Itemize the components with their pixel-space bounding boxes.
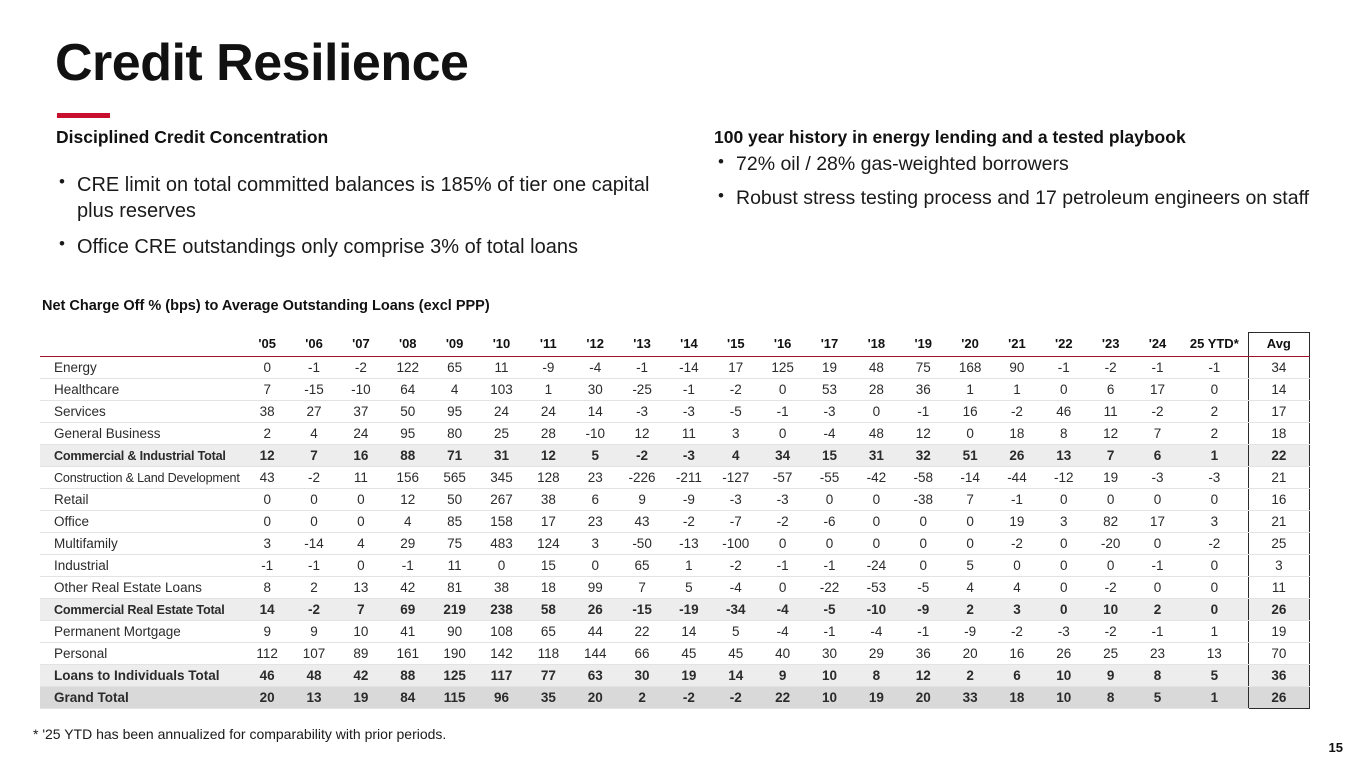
table-cell: 128 bbox=[525, 467, 572, 489]
table-cell: 95 bbox=[431, 401, 478, 423]
table-cell: 3 bbox=[1181, 511, 1248, 533]
table-cell: 0 bbox=[1087, 555, 1134, 577]
table-cell: 48 bbox=[853, 357, 900, 379]
table-cell: 25 bbox=[478, 423, 525, 445]
table-cell: 0 bbox=[947, 533, 994, 555]
table-cell: 103 bbox=[478, 379, 525, 401]
table-cell: 7 bbox=[1134, 423, 1181, 445]
table-cell: 8 bbox=[1134, 665, 1181, 687]
table-cell-avg: 21 bbox=[1248, 467, 1309, 489]
table-cell: 0 bbox=[337, 511, 384, 533]
table-cell: 0 bbox=[900, 533, 947, 555]
table-cell: 16 bbox=[337, 445, 384, 467]
table-cell: 0 bbox=[1181, 379, 1248, 401]
table-cell: 125 bbox=[759, 357, 806, 379]
table-row: Retail00012502673869-9-3-300-387-1000016 bbox=[40, 489, 1310, 511]
table-cell: 238 bbox=[478, 599, 525, 621]
table-cell: 17 bbox=[1134, 379, 1181, 401]
table-cell: -25 bbox=[619, 379, 666, 401]
table-cell: 24 bbox=[525, 401, 572, 423]
table-cell: 48 bbox=[853, 423, 900, 445]
table-cell: -3 bbox=[712, 489, 759, 511]
table-cell: 13 bbox=[291, 687, 338, 709]
table-cell: 2 bbox=[947, 665, 994, 687]
table-cell: 46 bbox=[1040, 401, 1087, 423]
table-cell: 13 bbox=[337, 577, 384, 599]
table-cell: -1 bbox=[666, 379, 713, 401]
table-cell: -4 bbox=[759, 621, 806, 643]
table-cell: 6 bbox=[1087, 379, 1134, 401]
column-header-year: '14 bbox=[666, 333, 713, 357]
table-cell: 26 bbox=[572, 599, 619, 621]
row-label: Personal bbox=[40, 643, 244, 665]
table-cell: 142 bbox=[478, 643, 525, 665]
table-cell: -2 bbox=[1087, 621, 1134, 643]
table-cell: 95 bbox=[384, 423, 431, 445]
table-cell: -1 bbox=[759, 555, 806, 577]
table-cell: 4 bbox=[384, 511, 431, 533]
table-cell: 45 bbox=[712, 643, 759, 665]
table-cell: 7 bbox=[244, 379, 291, 401]
table-row: Construction & Land Development43-211156… bbox=[40, 467, 1310, 489]
table-cell: -50 bbox=[619, 533, 666, 555]
table-cell: 8 bbox=[244, 577, 291, 599]
table-cell-avg: 18 bbox=[1248, 423, 1309, 445]
column-header-category bbox=[40, 333, 244, 357]
table-cell: -4 bbox=[853, 621, 900, 643]
table-cell: 14 bbox=[244, 599, 291, 621]
row-label: Construction & Land Development bbox=[40, 467, 244, 489]
net-charge-off-table: '05'06'07'08'09'10'11'12'13'14'15'16'17'… bbox=[40, 332, 1310, 709]
row-label: Multifamily bbox=[40, 533, 244, 555]
table-cell: -22 bbox=[806, 577, 853, 599]
table-cell: -24 bbox=[853, 555, 900, 577]
table-cell: 0 bbox=[291, 511, 338, 533]
table-cell: 108 bbox=[478, 621, 525, 643]
table-cell-avg: 25 bbox=[1248, 533, 1309, 555]
column-header-year: '11 bbox=[525, 333, 572, 357]
table-cell: 0 bbox=[806, 533, 853, 555]
table-cell: 0 bbox=[1040, 533, 1087, 555]
table-cell: 58 bbox=[525, 599, 572, 621]
table-cell: 12 bbox=[244, 445, 291, 467]
left-bullet-list: CRE limit on total committed balances is… bbox=[55, 172, 655, 260]
title-accent-rule bbox=[57, 113, 110, 118]
table-cell: 2 bbox=[1181, 423, 1248, 445]
table-cell: 19 bbox=[337, 687, 384, 709]
table-cell: 28 bbox=[525, 423, 572, 445]
row-label: Grand Total bbox=[40, 687, 244, 709]
table-cell: 30 bbox=[619, 665, 666, 687]
table-cell: 31 bbox=[478, 445, 525, 467]
table-cell: -53 bbox=[853, 577, 900, 599]
table-cell: -2 bbox=[994, 401, 1041, 423]
table-cell: -1 bbox=[1134, 555, 1181, 577]
list-item: Robust stress testing process and 17 pet… bbox=[714, 186, 1314, 212]
table-cell: -34 bbox=[712, 599, 759, 621]
table-cell: 15 bbox=[525, 555, 572, 577]
table-cell: 5 bbox=[1134, 687, 1181, 709]
table-cell: -1 bbox=[806, 555, 853, 577]
table-cell: 1 bbox=[947, 379, 994, 401]
table-cell: 20 bbox=[572, 687, 619, 709]
table-cell: 33 bbox=[947, 687, 994, 709]
table-cell: 10 bbox=[806, 665, 853, 687]
table-cell-avg: 11 bbox=[1248, 577, 1309, 599]
table-cell: 81 bbox=[431, 577, 478, 599]
table-cell: 7 bbox=[1087, 445, 1134, 467]
table-cell: 0 bbox=[900, 555, 947, 577]
table-cell: 12 bbox=[525, 445, 572, 467]
table-cell: 144 bbox=[572, 643, 619, 665]
table-cell: -1 bbox=[900, 621, 947, 643]
table-cell: 0 bbox=[478, 555, 525, 577]
table-cell: 16 bbox=[994, 643, 1041, 665]
table-cell: 1 bbox=[525, 379, 572, 401]
table-cell: 19 bbox=[853, 687, 900, 709]
table-cell-avg: 36 bbox=[1248, 665, 1309, 687]
table-cell: -5 bbox=[806, 599, 853, 621]
table-cell: 66 bbox=[619, 643, 666, 665]
column-header-year: '21 bbox=[994, 333, 1041, 357]
table-cell: 7 bbox=[619, 577, 666, 599]
table-row: Commercial & Industrial Total12716887131… bbox=[40, 445, 1310, 467]
table-cell: -44 bbox=[994, 467, 1041, 489]
table-cell: -19 bbox=[666, 599, 713, 621]
column-header-year: '12 bbox=[572, 333, 619, 357]
table-cell: 31 bbox=[853, 445, 900, 467]
table-cell: 0 bbox=[947, 511, 994, 533]
column-header-year: '09 bbox=[431, 333, 478, 357]
table-cell: 345 bbox=[478, 467, 525, 489]
table-cell: 34 bbox=[759, 445, 806, 467]
table-cell: -42 bbox=[853, 467, 900, 489]
table-cell: 44 bbox=[572, 621, 619, 643]
table-cell: 12 bbox=[1087, 423, 1134, 445]
table-cell: 0 bbox=[1134, 489, 1181, 511]
table-cell: 168 bbox=[947, 357, 994, 379]
table-cell: 30 bbox=[572, 379, 619, 401]
table-cell: 18 bbox=[994, 687, 1041, 709]
list-item: 72% oil / 28% gas-weighted borrowers bbox=[714, 152, 1314, 178]
table-cell: 14 bbox=[666, 621, 713, 643]
table-cell: 32 bbox=[900, 445, 947, 467]
table-cell: -1 bbox=[759, 401, 806, 423]
column-header-avg: Avg bbox=[1248, 333, 1309, 357]
column-header-year: '16 bbox=[759, 333, 806, 357]
table-cell: 9 bbox=[1087, 665, 1134, 687]
table-cell: 219 bbox=[431, 599, 478, 621]
table-cell: 27 bbox=[291, 401, 338, 423]
row-label: Retail bbox=[40, 489, 244, 511]
table-cell: 5 bbox=[947, 555, 994, 577]
table-cell: 0 bbox=[853, 489, 900, 511]
table-row: Multifamily3-14429754831243-50-13-100000… bbox=[40, 533, 1310, 555]
table-cell: -4 bbox=[572, 357, 619, 379]
table-cell: 4 bbox=[712, 445, 759, 467]
list-item: CRE limit on total committed balances is… bbox=[55, 172, 655, 225]
table-cell: 75 bbox=[431, 533, 478, 555]
table-cell: 45 bbox=[666, 643, 713, 665]
slide-root: Credit Resilience Disciplined Credit Con… bbox=[0, 0, 1365, 769]
table-cell: -9 bbox=[947, 621, 994, 643]
table-cell: 0 bbox=[759, 533, 806, 555]
table-row: Other Real Estate Loans8213428138189975-… bbox=[40, 577, 1310, 599]
table-cell: 6 bbox=[1134, 445, 1181, 467]
table-cell: 10 bbox=[806, 687, 853, 709]
table-cell: 42 bbox=[337, 665, 384, 687]
table-cell: 99 bbox=[572, 577, 619, 599]
row-label: Permanent Mortgage bbox=[40, 621, 244, 643]
column-header-year: '06 bbox=[291, 333, 338, 357]
table-cell: 14 bbox=[712, 665, 759, 687]
table-row: Personal11210789161190142118144664545403… bbox=[40, 643, 1310, 665]
table-caption: Net Charge Off % (bps) to Average Outsta… bbox=[42, 298, 490, 314]
table-cell: -4 bbox=[759, 599, 806, 621]
table-row: Commercial Real Estate Total14-276921923… bbox=[40, 599, 1310, 621]
row-label: Healthcare bbox=[40, 379, 244, 401]
table-cell: -2 bbox=[1087, 577, 1134, 599]
table-cell: 9 bbox=[619, 489, 666, 511]
table-cell: 24 bbox=[478, 401, 525, 423]
table-cell: 7 bbox=[947, 489, 994, 511]
table-cell: 565 bbox=[431, 467, 478, 489]
table-cell: 41 bbox=[384, 621, 431, 643]
table-cell: 65 bbox=[619, 555, 666, 577]
table-cell: -15 bbox=[291, 379, 338, 401]
table-cell: 12 bbox=[900, 423, 947, 445]
table-cell: 2 bbox=[947, 599, 994, 621]
table-cell: 36 bbox=[900, 379, 947, 401]
table-cell: 0 bbox=[1040, 555, 1087, 577]
table-cell: -2 bbox=[291, 467, 338, 489]
table-row: Healthcare7-15-10644103130-25-1-20532836… bbox=[40, 379, 1310, 401]
table-cell: -2 bbox=[994, 621, 1041, 643]
table-cell: -2 bbox=[291, 599, 338, 621]
table-cell: 19 bbox=[666, 665, 713, 687]
table-body: Energy0-1-21226511-9-4-1-141712519487516… bbox=[40, 357, 1310, 709]
table-cell: -38 bbox=[900, 489, 947, 511]
table-cell: 3 bbox=[712, 423, 759, 445]
table-row: Industrial-1-10-1110150651-2-1-1-2405000… bbox=[40, 555, 1310, 577]
table-cell: -1 bbox=[900, 401, 947, 423]
table-cell: 0 bbox=[244, 357, 291, 379]
row-label: Office bbox=[40, 511, 244, 533]
table-cell: -1 bbox=[291, 555, 338, 577]
table-cell: 23 bbox=[572, 467, 619, 489]
row-label: Commercial & Industrial Total bbox=[40, 445, 244, 467]
column-header-year: '07 bbox=[337, 333, 384, 357]
table-cell: 5 bbox=[666, 577, 713, 599]
table-cell: -4 bbox=[806, 423, 853, 445]
table-cell: 0 bbox=[1134, 533, 1181, 555]
table-cell: 71 bbox=[431, 445, 478, 467]
table-cell: 4 bbox=[291, 423, 338, 445]
table-cell: 0 bbox=[1040, 599, 1087, 621]
table-cell: 38 bbox=[525, 489, 572, 511]
table-cell: -2 bbox=[337, 357, 384, 379]
table-cell: 3 bbox=[1040, 511, 1087, 533]
table-cell: 19 bbox=[806, 357, 853, 379]
table-cell: 5 bbox=[712, 621, 759, 643]
table-cell: 2 bbox=[1181, 401, 1248, 423]
row-label: Commercial Real Estate Total bbox=[40, 599, 244, 621]
table-cell: -15 bbox=[619, 599, 666, 621]
table-cell: 0 bbox=[1040, 379, 1087, 401]
table-cell: 18 bbox=[525, 577, 572, 599]
table-cell: -12 bbox=[1040, 467, 1087, 489]
column-header-year: '05 bbox=[244, 333, 291, 357]
table-cell: -14 bbox=[291, 533, 338, 555]
table-cell: 3 bbox=[994, 599, 1041, 621]
table-cell: 90 bbox=[994, 357, 1041, 379]
column-header-year: '13 bbox=[619, 333, 666, 357]
table-cell: 0 bbox=[337, 489, 384, 511]
table-cell: -9 bbox=[525, 357, 572, 379]
table-cell: -4 bbox=[712, 577, 759, 599]
table-cell: 43 bbox=[244, 467, 291, 489]
table-cell: 89 bbox=[337, 643, 384, 665]
table-cell: 23 bbox=[1134, 643, 1181, 665]
table-cell: 15 bbox=[806, 445, 853, 467]
table-cell: 38 bbox=[244, 401, 291, 423]
table-cell: -5 bbox=[712, 401, 759, 423]
table-cell: -10 bbox=[853, 599, 900, 621]
row-label: Energy bbox=[40, 357, 244, 379]
column-header-year: '08 bbox=[384, 333, 431, 357]
table-cell: 0 bbox=[994, 555, 1041, 577]
table-cell: -58 bbox=[900, 467, 947, 489]
table-cell-avg: 70 bbox=[1248, 643, 1309, 665]
table-cell: -2 bbox=[1134, 401, 1181, 423]
table-cell: 158 bbox=[478, 511, 525, 533]
page-title: Credit Resilience bbox=[55, 36, 468, 91]
table-cell: -226 bbox=[619, 467, 666, 489]
table-cell: 22 bbox=[759, 687, 806, 709]
table-cell: 0 bbox=[806, 489, 853, 511]
table-cell: 3 bbox=[572, 533, 619, 555]
table-cell: 0 bbox=[337, 555, 384, 577]
right-bullet-list: 72% oil / 28% gas-weighted borrowers Rob… bbox=[714, 152, 1314, 211]
table-row: Permanent Mortgage99104190108654422145-4… bbox=[40, 621, 1310, 643]
table-cell: -2 bbox=[712, 687, 759, 709]
table-cell-avg: 21 bbox=[1248, 511, 1309, 533]
table-cell: -7 bbox=[712, 511, 759, 533]
table-cell: 20 bbox=[947, 643, 994, 665]
page-number: 15 bbox=[1329, 740, 1343, 755]
table-cell: -55 bbox=[806, 467, 853, 489]
table-cell: 0 bbox=[1134, 577, 1181, 599]
table-cell: -1 bbox=[994, 489, 1041, 511]
table-cell: 63 bbox=[572, 665, 619, 687]
table-cell: 17 bbox=[525, 511, 572, 533]
column-header-year: 25 YTD* bbox=[1181, 333, 1248, 357]
table-cell-avg: 34 bbox=[1248, 357, 1309, 379]
table-cell: 5 bbox=[572, 445, 619, 467]
table-cell: 0 bbox=[1181, 577, 1248, 599]
table-cell: 1 bbox=[1181, 621, 1248, 643]
table-cell: 1 bbox=[994, 379, 1041, 401]
table-cell-avg: 14 bbox=[1248, 379, 1309, 401]
table-row: Loans to Individuals Total46484288125117… bbox=[40, 665, 1310, 687]
table-cell: 20 bbox=[244, 687, 291, 709]
table-cell: -3 bbox=[1181, 467, 1248, 489]
table-cell: 0 bbox=[1087, 489, 1134, 511]
table-row: Services3827375095242414-3-3-5-1-30-116-… bbox=[40, 401, 1310, 423]
table-cell: 88 bbox=[384, 665, 431, 687]
table-cell: 18 bbox=[994, 423, 1041, 445]
table-cell: 0 bbox=[853, 511, 900, 533]
table-cell: 13 bbox=[1181, 643, 1248, 665]
table-cell: 267 bbox=[478, 489, 525, 511]
table-cell: 1 bbox=[1181, 687, 1248, 709]
table-cell: 2 bbox=[244, 423, 291, 445]
table-cell: -57 bbox=[759, 467, 806, 489]
table-cell: -2 bbox=[619, 445, 666, 467]
table-cell: 77 bbox=[525, 665, 572, 687]
table-cell: -2 bbox=[994, 533, 1041, 555]
column-header-year: '24 bbox=[1134, 333, 1181, 357]
table-cell: -2 bbox=[666, 511, 713, 533]
table-cell: 19 bbox=[994, 511, 1041, 533]
table-cell: 2 bbox=[291, 577, 338, 599]
table-cell: 0 bbox=[853, 401, 900, 423]
table-cell: -1 bbox=[1134, 621, 1181, 643]
table-cell: -211 bbox=[666, 467, 713, 489]
left-panel-heading: Disciplined Credit Concentration bbox=[56, 127, 328, 148]
table-cell: 483 bbox=[478, 533, 525, 555]
table-cell: 16 bbox=[947, 401, 994, 423]
table-cell: 12 bbox=[900, 665, 947, 687]
table-cell: -1 bbox=[244, 555, 291, 577]
table-cell: 7 bbox=[291, 445, 338, 467]
table-cell: -1 bbox=[1181, 357, 1248, 379]
table-cell: 13 bbox=[1040, 445, 1087, 467]
table-cell: -3 bbox=[1134, 467, 1181, 489]
column-header-year: '22 bbox=[1040, 333, 1087, 357]
table-cell: 6 bbox=[994, 665, 1041, 687]
table-cell: 11 bbox=[666, 423, 713, 445]
table-cell-avg: 17 bbox=[1248, 401, 1309, 423]
table-cell: 12 bbox=[619, 423, 666, 445]
table-cell: -10 bbox=[572, 423, 619, 445]
table-cell: 8 bbox=[1087, 687, 1134, 709]
table-cell: -3 bbox=[666, 445, 713, 467]
table-cell: 5 bbox=[1181, 665, 1248, 687]
table-cell: 65 bbox=[525, 621, 572, 643]
table-cell: 75 bbox=[900, 357, 947, 379]
footnote: * '25 YTD has been annualized for compar… bbox=[33, 726, 446, 742]
table-cell: 0 bbox=[1181, 555, 1248, 577]
table-cell: 50 bbox=[431, 489, 478, 511]
table-cell: -13 bbox=[666, 533, 713, 555]
left-panel-bullets: CRE limit on total committed balances is… bbox=[55, 172, 655, 269]
table-cell: 17 bbox=[1134, 511, 1181, 533]
table-cell: 8 bbox=[853, 665, 900, 687]
table-cell: 0 bbox=[853, 533, 900, 555]
table-cell: -9 bbox=[900, 599, 947, 621]
row-label: Other Real Estate Loans bbox=[40, 577, 244, 599]
table-cell: 4 bbox=[947, 577, 994, 599]
table-cell: 51 bbox=[947, 445, 994, 467]
table-cell: 42 bbox=[384, 577, 431, 599]
table-cell: 11 bbox=[337, 467, 384, 489]
table-cell: -20 bbox=[1087, 533, 1134, 555]
table-cell-avg: 16 bbox=[1248, 489, 1309, 511]
right-panel-bullets: 72% oil / 28% gas-weighted borrowers Rob… bbox=[714, 152, 1314, 219]
table-cell: 124 bbox=[525, 533, 572, 555]
table-cell: 9 bbox=[759, 665, 806, 687]
